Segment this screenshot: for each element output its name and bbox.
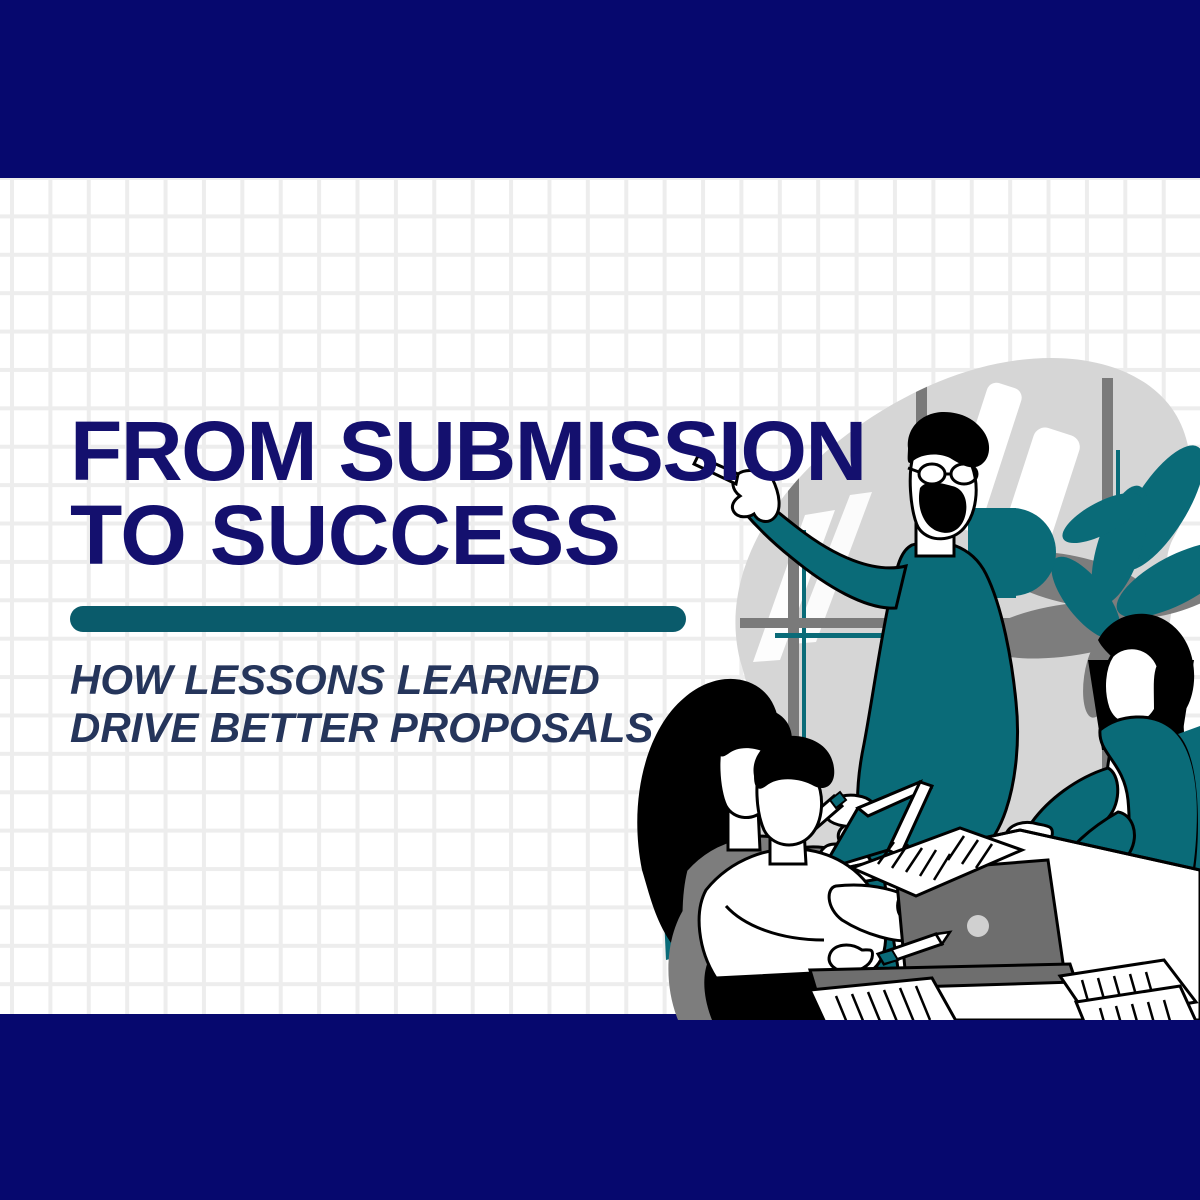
headline-block: FROM SUBMISSION TO SUCCESS HOW LESSONS L… [70, 412, 830, 753]
poster-canvas: FROM SUBMISSION TO SUCCESS HOW LESSONS L… [0, 0, 1200, 1200]
subtitle-line-1: HOW LESSONS LEARNED [70, 656, 830, 705]
teal-divider-bar [70, 606, 686, 632]
headline-line-1: FROM SUBMISSION [70, 412, 845, 492]
subtitle: HOW LESSONS LEARNED DRIVE BETTER PROPOSA… [70, 656, 830, 753]
top-navy-band [0, 0, 1200, 178]
headline-line-2: TO SUCCESS [70, 496, 845, 576]
bottom-navy-band [0, 1014, 1200, 1200]
subtitle-line-2: DRIVE BETTER PROPOSALS [70, 704, 830, 753]
page-title: FROM SUBMISSION TO SUCCESS [70, 412, 845, 576]
